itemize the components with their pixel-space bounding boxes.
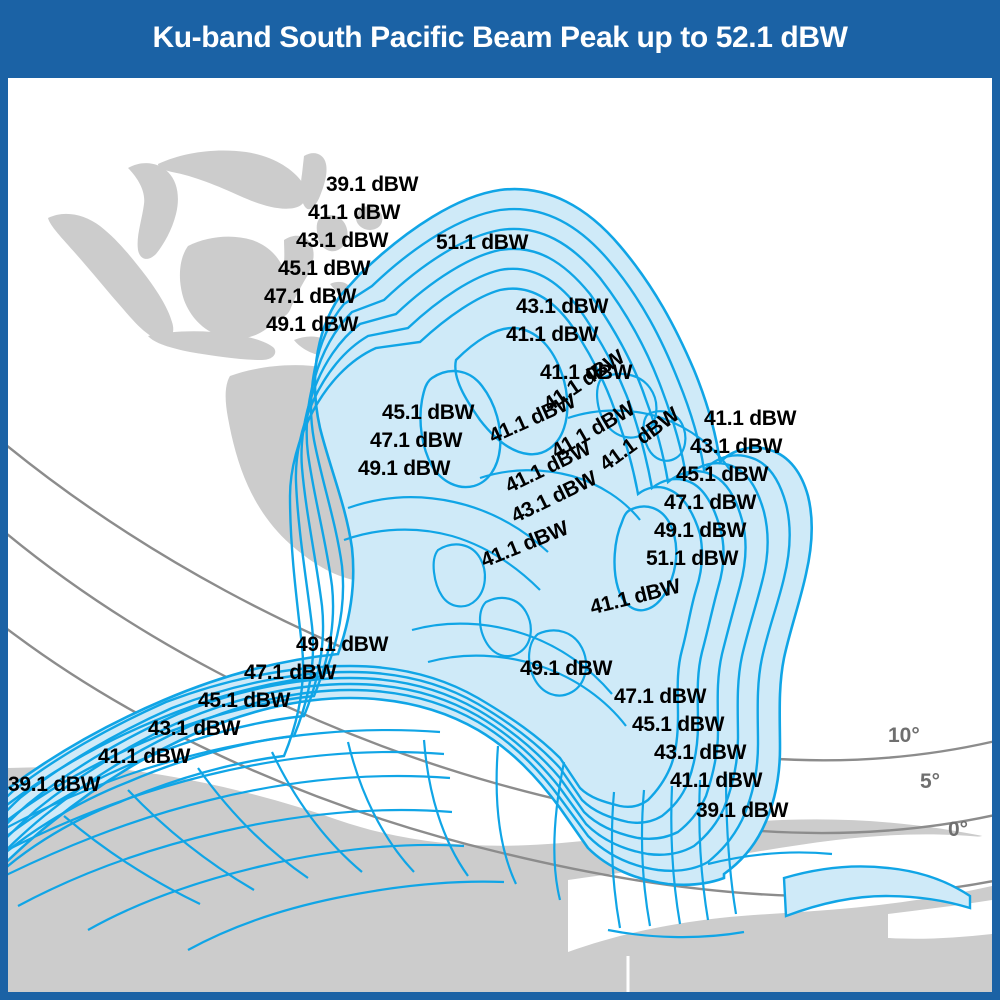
coverage-contour-svg <box>8 78 992 992</box>
contour-label-sc-49: 49.1 dBW <box>520 658 612 679</box>
contour-label-nw-45: 45.1 dBW <box>278 258 370 279</box>
contour-label-e-43: 43.1 dBW <box>690 436 782 457</box>
contour-label-wc-47: 47.1 dBW <box>370 430 462 451</box>
contour-label-nw-47: 47.1 dBW <box>264 286 356 307</box>
contour-label-nc-43: 43.1 dBW <box>516 296 608 317</box>
contour-label-nc-41: 41.1 dBW <box>506 324 598 345</box>
beam-coverage-map-page: Ku-band South Pacific Beam Peak up to 52… <box>0 0 1000 1000</box>
page-title: Ku-band South Pacific Beam Peak up to 52… <box>152 21 847 55</box>
elevation-label-5: 5° <box>920 770 940 794</box>
contour-label-sw-39: 39.1 dBW <box>8 774 100 795</box>
elevation-label-0: 0° <box>948 818 968 842</box>
contour-label-e-41: 41.1 dBW <box>704 408 796 429</box>
contour-label-nw-43: 43.1 dBW <box>296 230 388 251</box>
contour-label-peak-51: 51.1 dBW <box>436 232 528 253</box>
contour-label-e-47: 47.1 dBW <box>664 492 756 513</box>
contour-label-se-39: 39.1 dBW <box>696 800 788 821</box>
contour-label-sw-41: 41.1 dBW <box>98 746 190 767</box>
contour-label-sw-45: 45.1 dBW <box>198 690 290 711</box>
elevation-label-10: 10° <box>888 724 920 748</box>
contour-label-nw-49: 49.1 dBW <box>266 314 358 335</box>
contour-label-wc-49: 49.1 dBW <box>358 458 450 479</box>
contour-label-se-43: 43.1 dBW <box>654 742 746 763</box>
contour-label-e-45: 45.1 dBW <box>676 464 768 485</box>
contour-label-sw-47: 47.1 dBW <box>244 662 336 683</box>
contour-label-e-49: 49.1 dBW <box>654 520 746 541</box>
contour-label-wc-45: 45.1 dBW <box>382 402 474 423</box>
header-bar: Ku-band South Pacific Beam Peak up to 52… <box>0 0 1000 76</box>
contour-label-sw-43: 43.1 dBW <box>148 718 240 739</box>
contour-label-nw-41: 41.1 dBW <box>308 202 400 223</box>
contour-label-sw-49: 49.1 dBW <box>296 634 388 655</box>
contour-label-nw-39: 39.1 dBW <box>326 174 418 195</box>
map-canvas: 39.1 dBW 41.1 dBW 43.1 dBW 45.1 dBW 47.1… <box>8 78 992 992</box>
contour-label-se-47: 47.1 dBW <box>614 686 706 707</box>
contour-label-se-45: 45.1 dBW <box>632 714 724 735</box>
contour-label-e-51: 51.1 dBW <box>646 548 738 569</box>
contour-label-se-41: 41.1 dBW <box>670 770 762 791</box>
